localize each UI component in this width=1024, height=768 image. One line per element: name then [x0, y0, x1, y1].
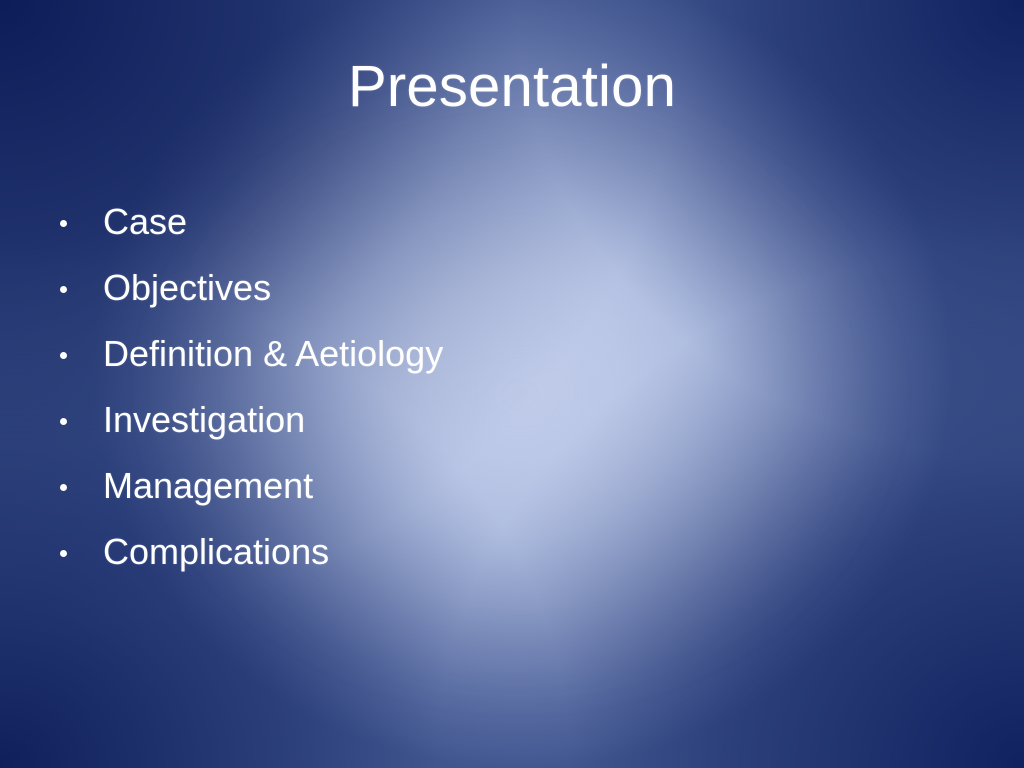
list-item-label: Definition & Aetiology — [103, 336, 443, 372]
bullet-dot-icon — [60, 352, 67, 359]
list-item[interactable]: Management — [56, 453, 816, 519]
list-item-label: Case — [103, 204, 187, 240]
presentation-slide: Presentation Case Objectives Definition … — [0, 0, 1024, 768]
list-item[interactable]: Objectives — [56, 255, 816, 321]
bullet-dot-icon — [60, 418, 67, 425]
bullet-dot-icon — [60, 286, 67, 293]
slide-content: Presentation Case Objectives Definition … — [0, 0, 1024, 768]
bullet-dot-icon — [60, 220, 67, 227]
list-item-label: Complications — [103, 534, 329, 570]
list-item[interactable]: Definition & Aetiology — [56, 321, 816, 387]
bullet-dot-icon — [60, 550, 67, 557]
list-item[interactable]: Case — [56, 189, 816, 255]
bullet-list: Case Objectives Definition & Aetiology I… — [56, 189, 816, 585]
list-item-label: Objectives — [103, 270, 271, 306]
list-item[interactable]: Complications — [56, 519, 816, 585]
list-item-label: Management — [103, 468, 313, 504]
list-item[interactable]: Investigation — [56, 387, 816, 453]
slide-title: Presentation — [0, 58, 1024, 116]
list-item-label: Investigation — [103, 402, 305, 438]
bullet-dot-icon — [60, 484, 67, 491]
